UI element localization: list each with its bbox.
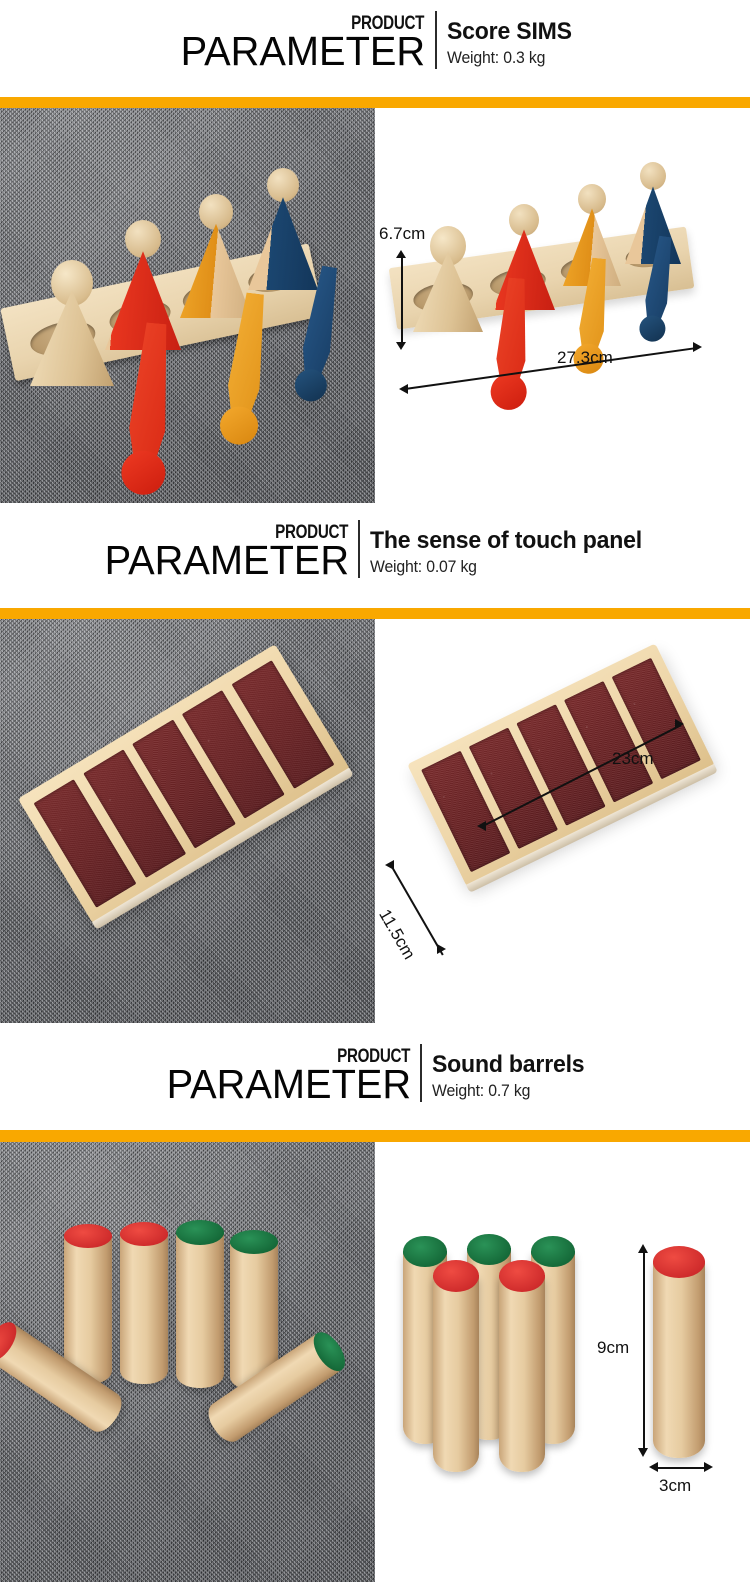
sound-barrel-group-item <box>499 1260 545 1472</box>
dimension-label-length: 27.3cm <box>557 348 613 368</box>
dimension-label-width: 11.5cm <box>375 906 419 963</box>
photo-sound-barrels-dimensions: 9cm 3cm <box>375 1142 750 1582</box>
photo-knobbed-cylinders-carpet <box>0 108 375 503</box>
header-divider-rule <box>358 520 360 578</box>
touch-panel-board <box>18 644 350 924</box>
photo-touch-panel-dimensions: 23cm 11.5cm <box>375 619 750 1023</box>
parameter-lockup: PRODUCT PARAMETER <box>173 15 434 71</box>
tongue-red <box>101 320 198 498</box>
header-divider-rule <box>420 1044 422 1102</box>
sound-barrel-standing <box>120 1222 168 1384</box>
dimension-label-height: 9cm <box>597 1338 629 1358</box>
lockup-parameter-label: PARAMETER <box>167 1064 412 1104</box>
lockup-parameter-label: PARAMETER <box>181 31 426 71</box>
photo-touch-panel-carpet <box>0 619 375 1023</box>
parameter-lockup: PRODUCT PARAMETER <box>159 1048 420 1104</box>
header-divider-rule <box>435 11 437 69</box>
sound-barrel-standing <box>176 1220 224 1388</box>
orange-divider-1 <box>0 97 750 108</box>
lockup-parameter-label: PARAMETER <box>104 540 349 580</box>
photo-row-touch-panel: 23cm 11.5cm <box>0 619 750 1023</box>
product-parameter-page: PRODUCT PARAMETER Score SIMS Weight: 0.3… <box>0 0 750 1582</box>
product-name: The sense of touch panel <box>370 526 642 555</box>
cone-natural-wood <box>30 260 114 386</box>
tongue-red <box>474 276 549 412</box>
orange-divider-3 <box>0 1130 750 1142</box>
product-weight: Weight: 0.7 kg <box>432 1079 580 1102</box>
photo-row-score-sims: 6.7cm 27.3cm <box>0 108 750 503</box>
section-header-touch-panel: PRODUCT PARAMETER The sense of touch pan… <box>0 503 750 608</box>
product-name: Sound barrels <box>432 1050 584 1079</box>
product-name: Score SIMS <box>447 17 572 46</box>
sound-barrel-group-item <box>433 1260 479 1472</box>
parameter-lockup: PRODUCT PARAMETER <box>97 524 358 580</box>
photo-sound-barrels-carpet <box>0 1142 375 1582</box>
product-weight: Weight: 0.3 kg <box>447 46 568 69</box>
orange-divider-2 <box>0 608 750 619</box>
product-weight: Weight: 0.07 kg <box>370 555 633 578</box>
sound-barrel-measured <box>653 1246 705 1458</box>
photo-row-sound-barrels: 9cm 3cm <box>0 1142 750 1582</box>
dimension-label-length: 23cm <box>612 749 654 769</box>
dimension-label-height: 6.7cm <box>379 224 425 244</box>
dimension-label-diameter: 3cm <box>659 1476 691 1496</box>
sound-barrel-standing <box>64 1224 112 1384</box>
photo-knobbed-cylinders-dimensions: 6.7cm 27.3cm <box>375 108 750 503</box>
section-header-sound-barrels: PRODUCT PARAMETER Sound barrels Weight: … <box>0 1023 750 1130</box>
touch-panel-board <box>407 643 715 886</box>
section-header-score-sims: PRODUCT PARAMETER Score SIMS Weight: 0.3… <box>0 0 750 97</box>
